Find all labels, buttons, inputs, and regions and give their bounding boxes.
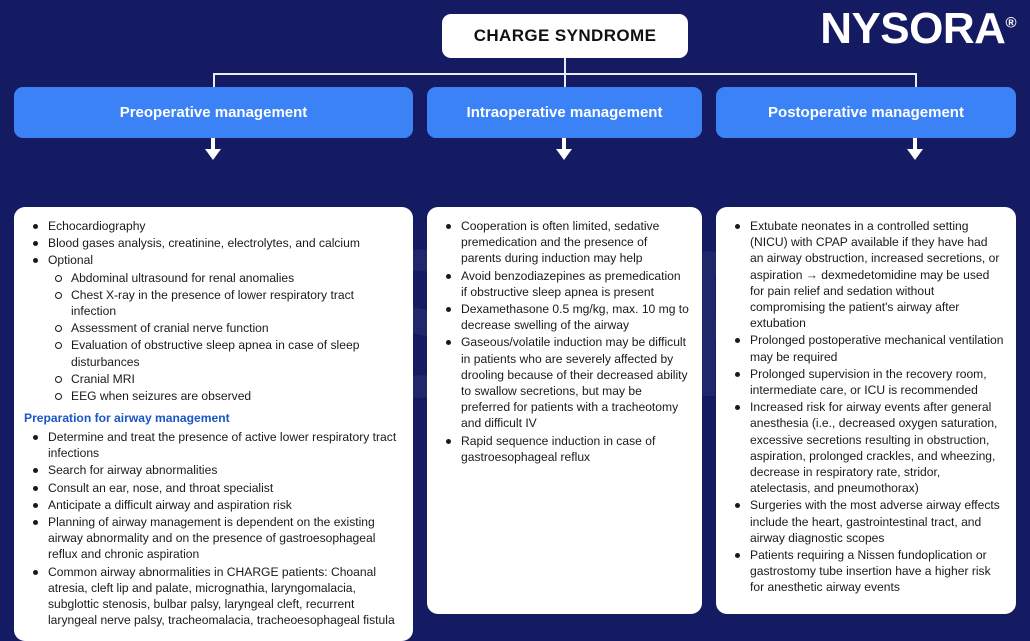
list-item: Avoid benzodiazepines as premedication i…	[437, 268, 690, 300]
list-item-text: Evaluation of obstructive sleep apnea in…	[71, 338, 359, 368]
list-item: Gaseous/volatile induction may be diffic…	[437, 334, 690, 431]
page-title: CHARGE SYNDROME	[474, 26, 657, 46]
connector-drop-postoperative	[915, 73, 917, 87]
list-intraoperative: Cooperation is often limited, sedative p…	[437, 218, 690, 465]
list-item: Determine and treat the presence of acti…	[24, 429, 401, 461]
list-item-text: Gaseous/volatile induction may be diffic…	[461, 335, 688, 430]
list-item-text: Avoid benzodiazepines as premedication i…	[461, 269, 681, 299]
list-item: Assessment of cranial nerve function	[48, 320, 401, 336]
list-item-text: EEG when seizures are observed	[71, 389, 251, 403]
diagram-title: CHARGE SYNDROME	[442, 14, 688, 58]
sublist-optional: Abdominal ultrasound for renal anomalies…	[48, 270, 401, 405]
column-header-postoperative: Postoperative management	[716, 87, 1016, 138]
arrow-down-icon-preoperative	[205, 138, 221, 160]
list-item: EEG when seizures are observed	[48, 388, 401, 404]
list-item-text: Increased risk for airway events after g…	[750, 400, 997, 495]
subsection-heading-airway-preparation: Preparation for airway management	[24, 411, 401, 427]
list-item-text: Determine and treat the presence of acti…	[48, 430, 396, 460]
list-item-text: Echocardiography	[48, 219, 145, 233]
column-header-label: Intraoperative management	[467, 104, 663, 121]
list-item-text: Prolonged postoperative mechanical venti…	[750, 333, 1003, 363]
list-item: Prolonged supervision in the recovery ro…	[726, 366, 1004, 398]
list-item: Anticipate a difficult airway and aspira…	[24, 497, 401, 513]
column-header-label: Preoperative management	[120, 104, 308, 121]
list-item: Dexamethasone 0.5 mg/kg, max. 10 mg to d…	[437, 301, 690, 333]
list-item: Echocardiography	[24, 218, 401, 234]
list-item-text: Extubate neonates in a controlled settin…	[750, 219, 999, 330]
column-header-label: Postoperative management	[768, 104, 964, 121]
list-item-text: Search for airway abnormalities	[48, 463, 217, 477]
registered-trademark-icon: ®	[1005, 14, 1016, 31]
list-airway-preparation: Determine and treat the presence of acti…	[24, 429, 401, 628]
list-item: Abdominal ultrasound for renal anomalies	[48, 270, 401, 286]
list-preoperative: Echocardiography Blood gases analysis, c…	[24, 218, 401, 404]
connector-drop-intraoperative	[564, 73, 566, 87]
list-item: Surgeries with the most adverse airway e…	[726, 497, 1004, 546]
list-item-text: Anticipate a difficult airway and aspira…	[48, 498, 292, 512]
column-header-intraoperative: Intraoperative management	[427, 87, 702, 138]
brand-name: NYSORA	[820, 4, 1005, 53]
list-item-text: Chest X-ray in the presence of lower res…	[71, 288, 354, 318]
list-item-text: Cooperation is often limited, sedative p…	[461, 219, 659, 265]
list-item-text: Assessment of cranial nerve function	[71, 321, 269, 335]
connector-drop-preoperative	[213, 73, 215, 87]
list-item-text: Blood gases analysis, creatinine, electr…	[48, 236, 360, 250]
list-item: Increased risk for airway events after g…	[726, 399, 1004, 496]
arrow-down-icon-postoperative	[907, 138, 923, 160]
column-header-preoperative: Preoperative management	[14, 87, 413, 138]
list-item-text: Rapid sequence induction in case of gast…	[461, 434, 655, 464]
list-item: Consult an ear, nose, and throat special…	[24, 480, 401, 496]
column-preoperative: Preoperative management Echocardiography…	[14, 87, 413, 641]
list-item-text: Prolonged supervision in the recovery ro…	[750, 367, 987, 397]
list-item: Cranial MRI	[48, 371, 401, 387]
list-item-text: Surgeries with the most adverse airway e…	[750, 498, 1000, 544]
list-item-text: Common airway abnormalities in CHARGE pa…	[48, 565, 395, 628]
list-item-text: Consult an ear, nose, and throat special…	[48, 481, 273, 495]
list-item: Chest X-ray in the presence of lower res…	[48, 287, 401, 319]
list-item-text: Optional	[48, 253, 93, 267]
list-item: Search for airway abnormalities	[24, 462, 401, 478]
list-item: Blood gases analysis, creatinine, electr…	[24, 235, 401, 251]
list-item-text: Patients requiring a Nissen fundoplicati…	[750, 548, 991, 594]
content-card-intraoperative: Cooperation is often limited, sedative p…	[427, 207, 702, 614]
list-postoperative: Extubate neonates in a controlled settin…	[726, 218, 1004, 596]
list-item: Planning of airway management is depende…	[24, 514, 401, 563]
column-postoperative: Postoperative management Extubate neonat…	[716, 87, 1016, 614]
list-item-text: Dexamethasone 0.5 mg/kg, max. 10 mg to d…	[461, 302, 689, 332]
list-item: Evaluation of obstructive sleep apnea in…	[48, 337, 401, 369]
list-item: Patients requiring a Nissen fundoplicati…	[726, 547, 1004, 596]
list-item-text: Planning of airway management is depende…	[48, 515, 375, 561]
arrow-down-icon-intraoperative	[556, 138, 572, 160]
list-item: Extubate neonates in a controlled settin…	[726, 218, 1004, 331]
nysora-logo: NYSORA®	[820, 7, 1016, 51]
list-item: Common airway abnormalities in CHARGE pa…	[24, 564, 401, 629]
list-item: Prolonged postoperative mechanical venti…	[726, 332, 1004, 364]
content-card-preoperative: Echocardiography Blood gases analysis, c…	[14, 207, 413, 641]
connector-stem	[564, 58, 566, 74]
list-item: Rapid sequence induction in case of gast…	[437, 433, 690, 465]
column-intraoperative: Intraoperative management Cooperation is…	[427, 87, 702, 614]
list-item-text: Cranial MRI	[71, 372, 135, 386]
list-item-text: Abdominal ultrasound for renal anomalies	[71, 271, 294, 285]
content-card-postoperative: Extubate neonates in a controlled settin…	[716, 207, 1016, 614]
list-item: Cooperation is often limited, sedative p…	[437, 218, 690, 267]
list-item: Optional Abdominal ultrasound for renal …	[24, 252, 401, 404]
